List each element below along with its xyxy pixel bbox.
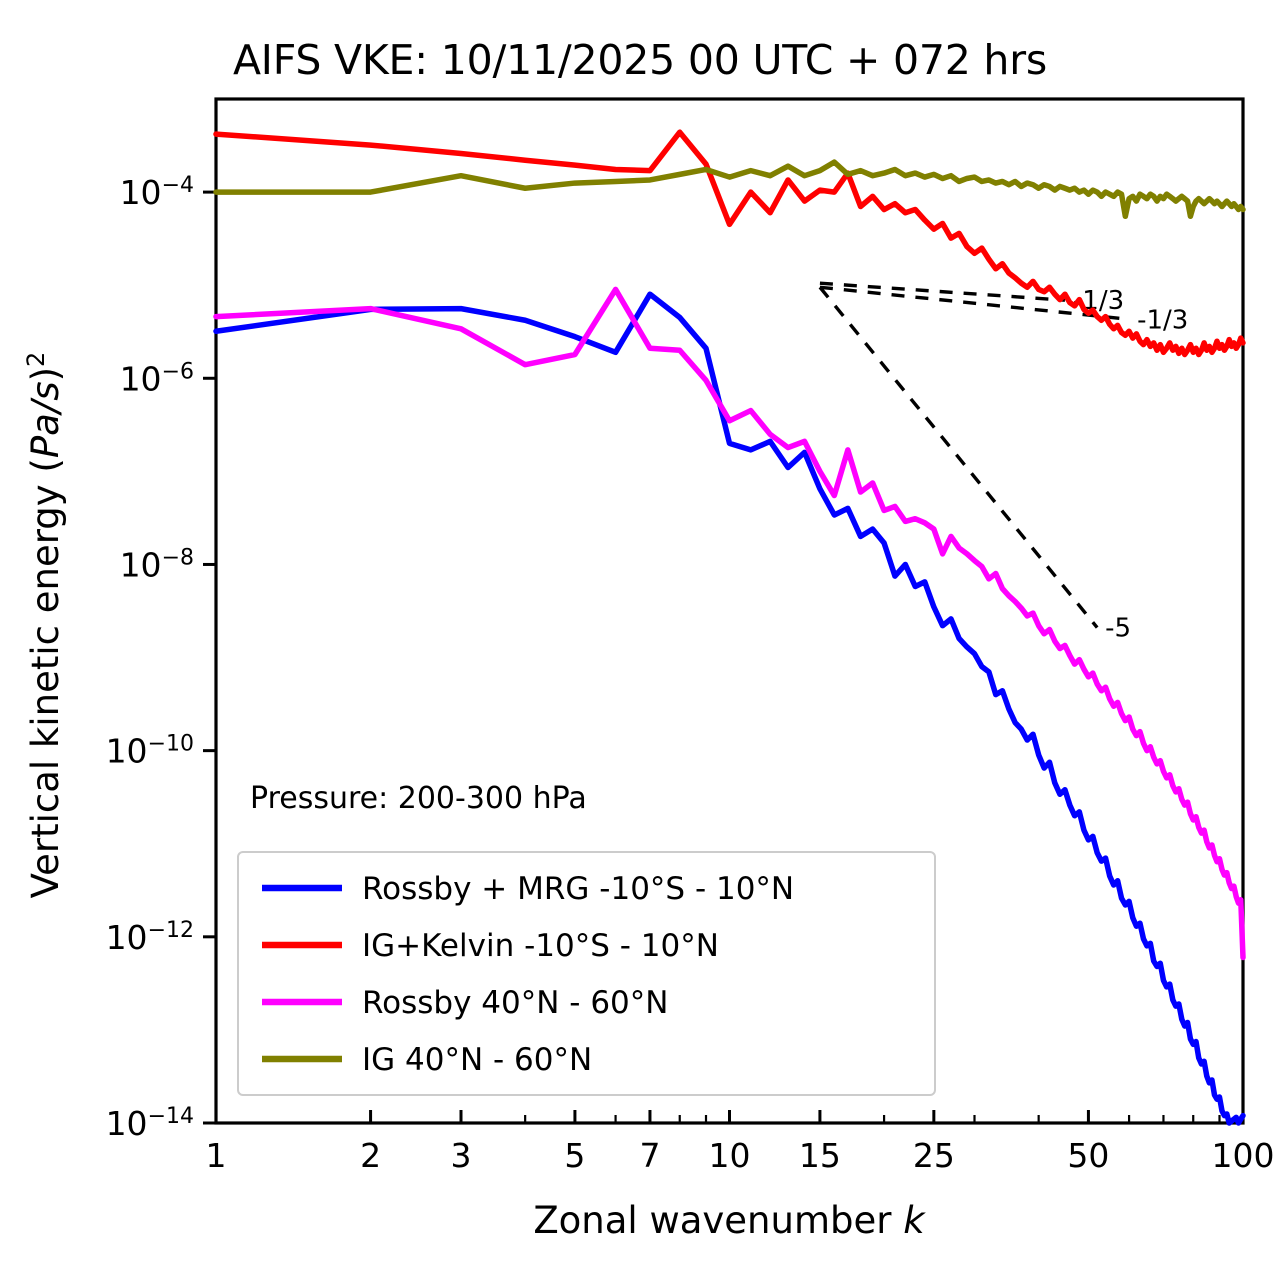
x-tick-label: 7: [639, 1136, 660, 1175]
legend-label-3: IG 40°N - 60°N: [362, 1042, 592, 1078]
slope-line-2: [820, 287, 1097, 627]
y-tick-label: 10−12: [106, 917, 194, 957]
y-axis-label-main: Vertical kinetic energy (: [24, 458, 67, 898]
x-axis-tick-labels: 1235710152550100: [206, 1136, 1275, 1175]
reference-slope-lines: [820, 283, 1129, 627]
x-axis-label: Zonal wavenumber k: [533, 1199, 926, 1242]
y-axis-label: Vertical kinetic energy (Pa/s)2: [22, 352, 67, 899]
y-tick-label: 10−14: [106, 1104, 194, 1144]
x-tick-label: 100: [1212, 1136, 1275, 1175]
y-axis-label-italic: Pa/s: [24, 381, 67, 458]
y-axis-label-exponent: 2: [22, 352, 50, 367]
slope-label-2: -5: [1105, 614, 1131, 644]
x-tick-label: 15: [799, 1136, 841, 1175]
y-axis-tick-labels: 10−410−610−810−1010−1210−14: [106, 173, 194, 1143]
svg-text:Zonal wavenumber k: Zonal wavenumber k: [533, 1199, 926, 1242]
series-line-3: [216, 162, 1243, 216]
x-tick-label: 5: [564, 1136, 585, 1175]
plot-area: 1235710152550100 10−410−610−810−1010−121…: [0, 0, 1280, 1288]
pressure-annotation: Pressure: 200-300 hPa: [250, 781, 587, 816]
svg-text:Vertical kinetic energy (Pa/s): Vertical kinetic energy (Pa/s)2: [22, 352, 67, 899]
y-tick-label: 10−10: [106, 731, 194, 771]
x-tick-label: 1: [206, 1136, 227, 1175]
y-tick-label: 10−8: [120, 545, 194, 585]
x-axis-label-italic: k: [903, 1199, 926, 1242]
x-axis-label-main: Zonal wavenumber: [533, 1199, 903, 1242]
legend: Rossby + MRG -10°S - 10°NIG+Kelvin -10°S…: [238, 852, 935, 1095]
x-tick-label: 3: [451, 1136, 472, 1175]
legend-label-1: IG+Kelvin -10°S - 10°N: [362, 928, 719, 964]
slope-label-1: -1/3: [1137, 305, 1188, 335]
x-axis-ticks: [216, 1110, 1243, 1123]
x-tick-label: 50: [1067, 1136, 1109, 1175]
legend-label-0: Rossby + MRG -10°S - 10°N: [362, 871, 794, 907]
legend-label-2: Rossby 40°N - 60°N: [362, 985, 668, 1021]
y-axis-label-tail: ): [24, 367, 67, 381]
x-tick-label: 25: [913, 1136, 955, 1175]
y-tick-label: 10−6: [120, 359, 194, 399]
series-line-1: [216, 132, 1243, 354]
figure-canvas: AIFS VKE: 10/11/2025 00 UTC + 072 hrs 12…: [0, 0, 1280, 1288]
x-tick-label: 2: [360, 1136, 381, 1175]
y-tick-label: 10−4: [120, 173, 194, 213]
x-tick-label: 10: [709, 1136, 751, 1175]
